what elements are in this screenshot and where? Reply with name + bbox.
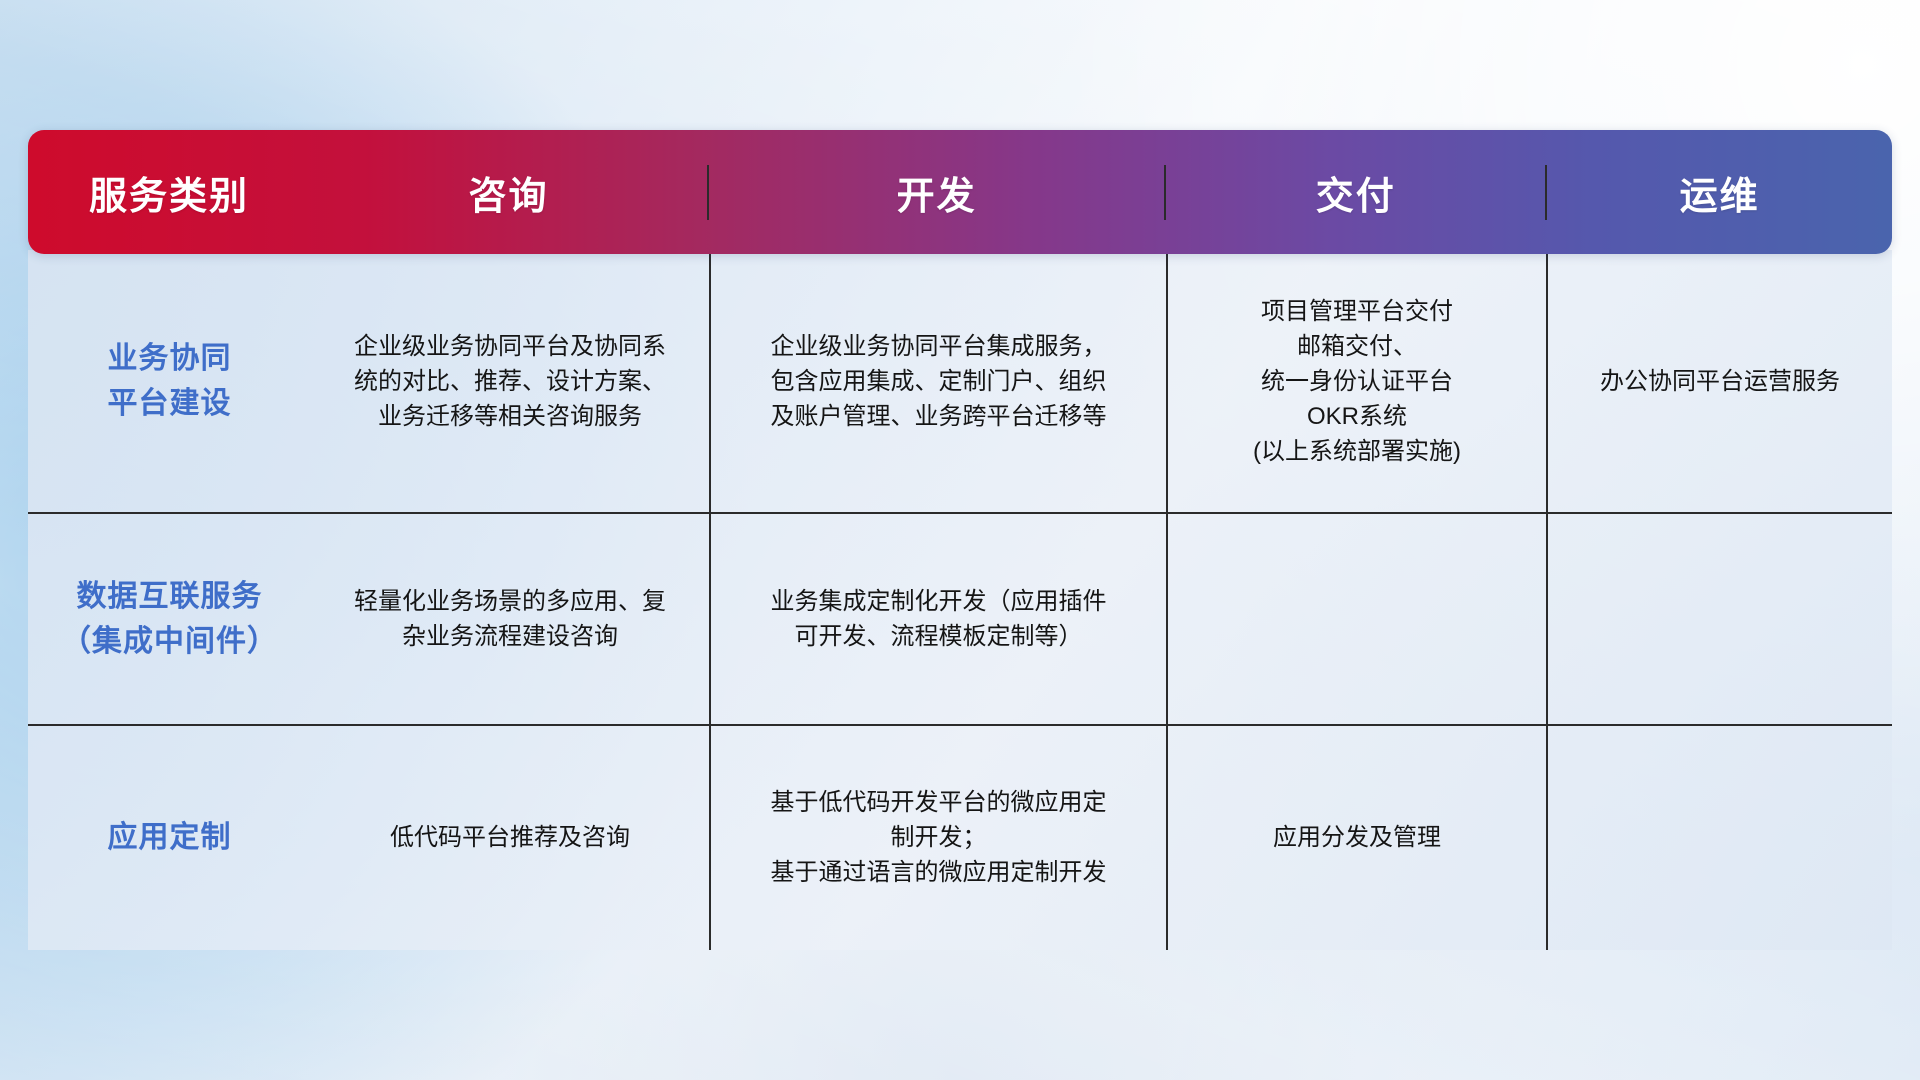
cell-category: 应用定制 (28, 726, 311, 950)
cell-text: 项目管理平台交付 邮箱交付、 统一身份认证平台 OKR系统 (以上系统部署实施) (1253, 294, 1461, 469)
cell-text: 低代码平台推荐及咨询 (390, 820, 630, 855)
cell-text: 办公协同平台运营服务 (1600, 364, 1840, 399)
cell-text: 应用分发及管理 (1273, 820, 1441, 855)
cell-operations (1546, 726, 1892, 950)
table-row: 业务协同 平台建设 企业级业务协同平台及协同系 统的对比、推荐、设计方案、 业务… (28, 250, 1892, 512)
cell-category: 数据互联服务 （集成中间件） (28, 514, 311, 723)
category-label: 应用定制 (108, 815, 232, 860)
cell-operations (1546, 514, 1892, 723)
cell-development: 基于低代码开发平台的微应用定 制开发； 基于通过语言的微应用定制开发 (709, 726, 1166, 950)
column-header-category: 服务类别 (28, 165, 310, 220)
cell-text: 轻量化业务场景的多应用、复 杂业务流程建设咨询 (354, 584, 666, 654)
cell-text: 企业级业务协同平台及协同系 统的对比、推荐、设计方案、 业务迁移等相关咨询服务 (354, 329, 666, 434)
column-header-operations: 运维 (1545, 165, 1892, 220)
cell-delivery (1166, 514, 1546, 723)
cell-category: 业务协同 平台建设 (28, 250, 311, 512)
category-label: 业务协同 平台建设 (108, 336, 232, 426)
table-row: 数据互联服务 （集成中间件） 轻量化业务场景的多应用、复 杂业务流程建设咨询 业… (28, 512, 1892, 723)
cell-text: 业务集成定制化开发（应用插件 可开发、流程模板定制等） (771, 584, 1107, 654)
column-header-development: 开发 (707, 165, 1165, 220)
category-label: 数据互联服务 （集成中间件） (61, 574, 278, 664)
service-matrix-table: 服务类别 咨询 开发 交付 运维 业务协同 平台建设 企业级业务协同平台及协同系… (28, 130, 1892, 950)
column-header-delivery: 交付 (1164, 165, 1545, 220)
cell-consulting: 企业级业务协同平台及协同系 统的对比、推荐、设计方案、 业务迁移等相关咨询服务 (311, 250, 709, 512)
table-body: 业务协同 平台建设 企业级业务协同平台及协同系 统的对比、推荐、设计方案、 业务… (28, 250, 1892, 950)
cell-text: 企业级业务协同平台集成服务， 包含应用集成、定制门户、组织 及账户管理、业务跨平… (771, 329, 1107, 434)
cell-text: 基于低代码开发平台的微应用定 制开发； 基于通过语言的微应用定制开发 (771, 785, 1107, 890)
cell-delivery: 项目管理平台交付 邮箱交付、 统一身份认证平台 OKR系统 (以上系统部署实施) (1166, 250, 1546, 512)
column-header-consulting: 咨询 (310, 165, 707, 220)
table-row: 应用定制 低代码平台推荐及咨询 基于低代码开发平台的微应用定 制开发； 基于通过… (28, 724, 1892, 950)
cell-consulting: 轻量化业务场景的多应用、复 杂业务流程建设咨询 (311, 514, 709, 723)
cell-development: 业务集成定制化开发（应用插件 可开发、流程模板定制等） (709, 514, 1166, 723)
cell-operations: 办公协同平台运营服务 (1546, 250, 1892, 512)
table-header-row: 服务类别 咨询 开发 交付 运维 (28, 130, 1892, 254)
cell-consulting: 低代码平台推荐及咨询 (311, 726, 709, 950)
cell-development: 企业级业务协同平台集成服务， 包含应用集成、定制门户、组织 及账户管理、业务跨平… (709, 250, 1166, 512)
cell-delivery: 应用分发及管理 (1166, 726, 1546, 950)
